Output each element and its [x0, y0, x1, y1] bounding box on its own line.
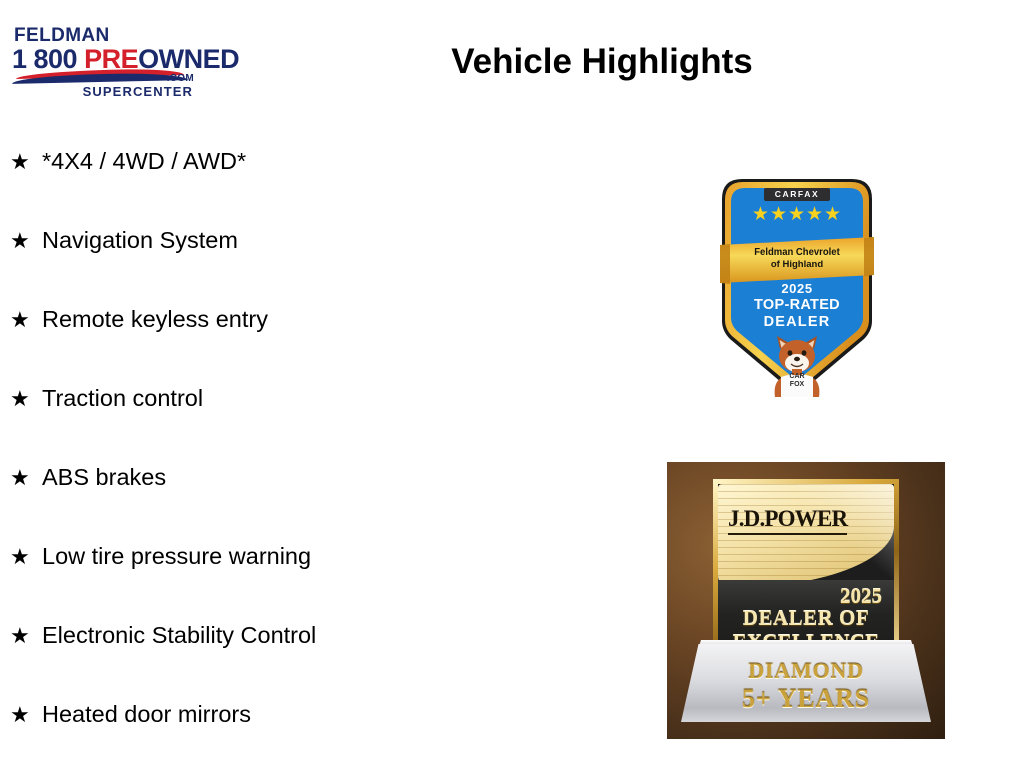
carfax-wordmark: CARFAX: [764, 188, 830, 201]
star-bullet-icon: ★: [10, 307, 42, 333]
carfax-dealer-name-line1: Feldman Chevrolet: [712, 247, 882, 260]
list-item: ★ Remote keyless entry: [10, 306, 610, 385]
jd-power-tier-text: DIAMOND: [667, 658, 945, 684]
jd-power-duration-text: 5+ YEARS: [667, 684, 945, 714]
carfax-award-line1: TOP-RATED: [712, 297, 882, 314]
list-item-label: Heated door mirrors: [42, 701, 251, 727]
list-item: ★ Navigation System: [10, 227, 610, 306]
jd-power-dealer-of-excellence-badge: J.D.POWER 2025 DEALER OF EXCELLENCE DIAM…: [667, 462, 945, 739]
star-bullet-icon: ★: [10, 149, 42, 175]
list-item: ★ Low tire pressure warning: [10, 543, 610, 622]
list-item-label: Electronic Stability Control: [42, 622, 316, 648]
list-item-label: Navigation System: [42, 227, 238, 253]
list-item-label: Traction control: [42, 385, 203, 411]
carfax-top-rated-dealer-badge: CARFAX ★★★★★ Feldman Chevrolet of Highla…: [712, 171, 882, 399]
list-item-label: Remote keyless entry: [42, 306, 268, 332]
list-item: ★ Electronic Stability Control: [10, 622, 610, 701]
carfax-award-text: 2025 TOP-RATED DEALER: [712, 281, 882, 331]
carfax-award-year: 2025: [712, 281, 882, 297]
star-bullet-icon: ★: [10, 386, 42, 412]
star-bullet-icon: ★: [10, 465, 42, 491]
star-bullet-icon: ★: [10, 544, 42, 570]
car-fox-shirt-line2: FOX: [783, 381, 811, 389]
jd-power-award-line1: DEALER OF: [718, 606, 894, 631]
list-item: ★ Heated door mirrors: [10, 701, 610, 780]
list-item: ★ Traction control: [10, 385, 610, 464]
page-title: Vehicle Highlights: [0, 42, 1024, 82]
jd-power-plaque: J.D.POWER 2025 DEALER OF EXCELLENCE: [713, 479, 899, 659]
page-title-text: Vehicle Highlights: [451, 42, 752, 82]
star-bullet-icon: ★: [10, 228, 42, 254]
carfax-dealer-name-line2: of Highland: [712, 259, 882, 271]
jd-power-brand-text: J.D.POWER: [728, 506, 847, 535]
star-bullet-icon: ★: [10, 623, 42, 649]
car-fox-mascot-icon: CAR FOX: [767, 333, 827, 397]
carfax-wordmark-text: CARFAX: [764, 188, 830, 201]
list-item: ★ ABS brakes: [10, 464, 610, 543]
carfax-star-rating-icon: ★★★★★: [712, 205, 882, 225]
car-fox-shirt-text: CAR FOX: [783, 373, 811, 389]
vehicle-highlights-list: ★ *4X4 / 4WD / AWD* ★ Navigation System …: [10, 148, 610, 780]
list-item-label: ABS brakes: [42, 464, 166, 490]
list-item-label: Low tire pressure warning: [42, 543, 311, 569]
list-item-label: *4X4 / 4WD / AWD*: [42, 148, 246, 174]
logo-supercenter-text: SUPERCENTER: [83, 84, 193, 99]
list-item: ★ *4X4 / 4WD / AWD*: [10, 148, 610, 227]
carfax-dealer-name: Feldman Chevrolet of Highland: [712, 247, 882, 271]
car-fox-shirt-line1: CAR: [783, 373, 811, 381]
star-bullet-icon: ★: [10, 702, 42, 728]
carfax-award-line2: DEALER: [712, 314, 882, 331]
jd-power-plaque-upper-panel: [718, 484, 894, 588]
